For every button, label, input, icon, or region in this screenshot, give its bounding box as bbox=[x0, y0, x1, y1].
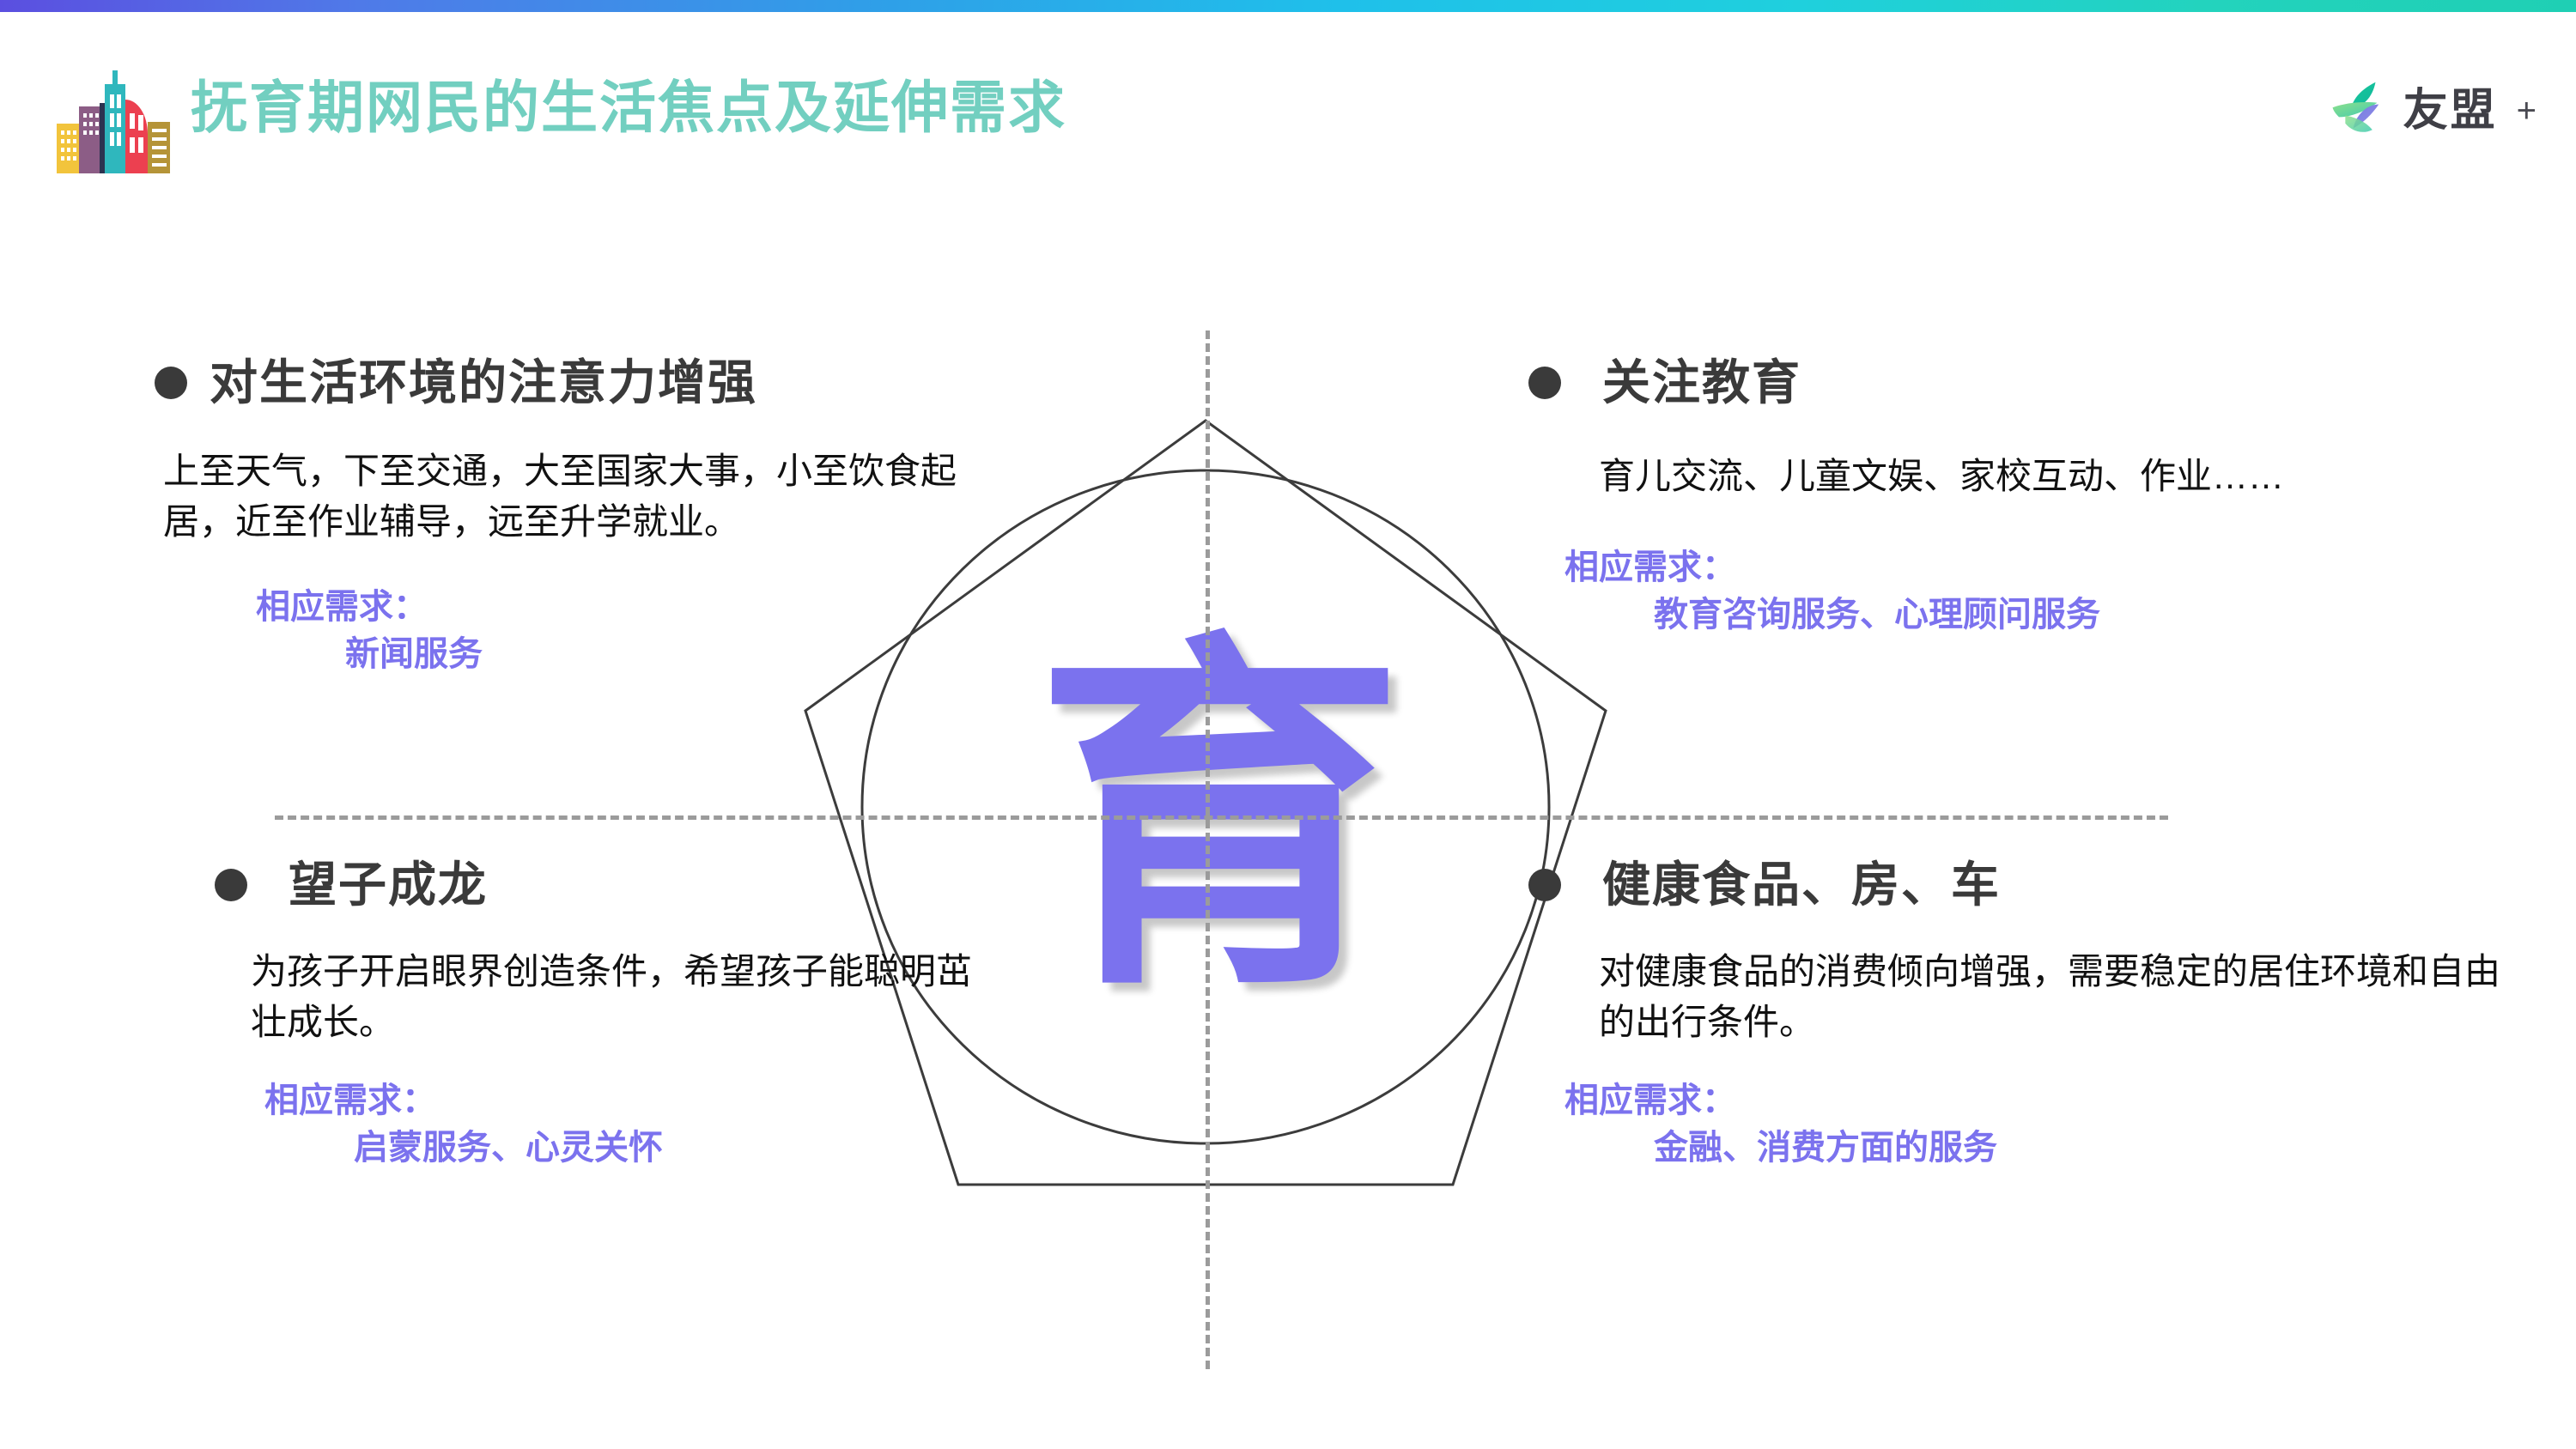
need-label: 相应需求： bbox=[264, 1077, 1073, 1125]
quadrant-description: 为孩子开启眼界创造条件，希望孩子能聪明茁壮成长。 bbox=[251, 946, 972, 1048]
brand-plus: + bbox=[2517, 94, 2537, 128]
horizontal-dashed-axis bbox=[275, 815, 2168, 820]
quadrant-description: 对健康食品的消费倾向增强，需要稳定的居住环境和自由的出行条件。 bbox=[1599, 946, 2509, 1048]
quadrant-heading: 望子成龙 bbox=[215, 858, 1073, 912]
page-title: 抚育期网民的生活焦点及延伸需求 bbox=[191, 79, 1066, 136]
quadrant-needs: 相应需求： 新闻服务 bbox=[256, 584, 1013, 678]
need-value: 金融、消费方面的服务 bbox=[1654, 1125, 2524, 1172]
quadrant-description: 育儿交流、儿童文娱、家校互动、作业…… bbox=[1599, 451, 2473, 502]
quadrant-needs: 相应需求： 启蒙服务、心灵关怀 bbox=[264, 1077, 1073, 1172]
vertical-dashed-axis bbox=[1206, 330, 1210, 1369]
need-value: 教育咨询服务、心理顾问服务 bbox=[1654, 591, 2473, 639]
top-gradient-bar bbox=[0, 0, 2576, 12]
quadrant-needs: 相应需求： 金融、消费方面的服务 bbox=[1564, 1077, 2524, 1172]
need-value: 启蒙服务、心灵关怀 bbox=[354, 1125, 1073, 1172]
bullet-dot-icon bbox=[1528, 367, 1561, 399]
umeng-bird-logo bbox=[2328, 79, 2391, 142]
city-skyline-icon bbox=[53, 65, 173, 179]
need-label: 相应需求： bbox=[1564, 1077, 2524, 1125]
quadrant-title: 望子成龙 bbox=[289, 858, 488, 912]
quadrant-heading: 健康食品、房、车 bbox=[1528, 858, 2524, 912]
need-value: 新闻服务 bbox=[345, 631, 1013, 678]
brand-logo: 友盟 + bbox=[2328, 79, 2537, 142]
center-character: 育 bbox=[1035, 635, 1404, 1004]
brand-name: 友盟 bbox=[2403, 88, 2498, 133]
quadrant-title: 健康食品、房、车 bbox=[1602, 858, 2001, 912]
quadrant-title: 对生活环境的注意力增强 bbox=[210, 356, 757, 409]
quadrant-top-right: 关注教育 育儿交流、儿童文娱、家校互动、作业…… 相应需求： 教育咨询服务、心理… bbox=[1528, 356, 2473, 640]
quadrant-needs: 相应需求： 教育咨询服务、心理顾问服务 bbox=[1564, 544, 2473, 639]
quadrant-description: 上至天气，下至交通，大至国家大事，小至饮食起居，近至作业辅导，远至升学就业。 bbox=[163, 446, 987, 548]
need-label: 相应需求： bbox=[1564, 544, 2473, 591]
bullet-dot-icon bbox=[1528, 869, 1561, 901]
bullet-dot-icon bbox=[215, 869, 247, 901]
quadrant-bottom-left: 望子成龙 为孩子开启眼界创造条件，希望孩子能聪明茁壮成长。 相应需求： 启蒙服务… bbox=[215, 858, 1073, 1172]
quadrant-heading: 关注教育 bbox=[1528, 356, 2473, 409]
quadrant-bottom-right: 健康食品、房、车 对健康食品的消费倾向增强，需要稳定的居住环境和自由的出行条件。… bbox=[1528, 858, 2524, 1172]
quadrant-top-left: 对生活环境的注意力增强 上至天气，下至交通，大至国家大事，小至饮食起居，近至作业… bbox=[155, 356, 1013, 678]
quadrant-heading: 对生活环境的注意力增强 bbox=[155, 356, 1013, 409]
need-label: 相应需求： bbox=[256, 584, 1013, 631]
bullet-dot-icon bbox=[155, 367, 187, 399]
slide-header: 抚育期网民的生活焦点及延伸需求 友盟 + bbox=[0, 12, 2576, 158]
quadrant-title: 关注教育 bbox=[1602, 356, 1801, 409]
